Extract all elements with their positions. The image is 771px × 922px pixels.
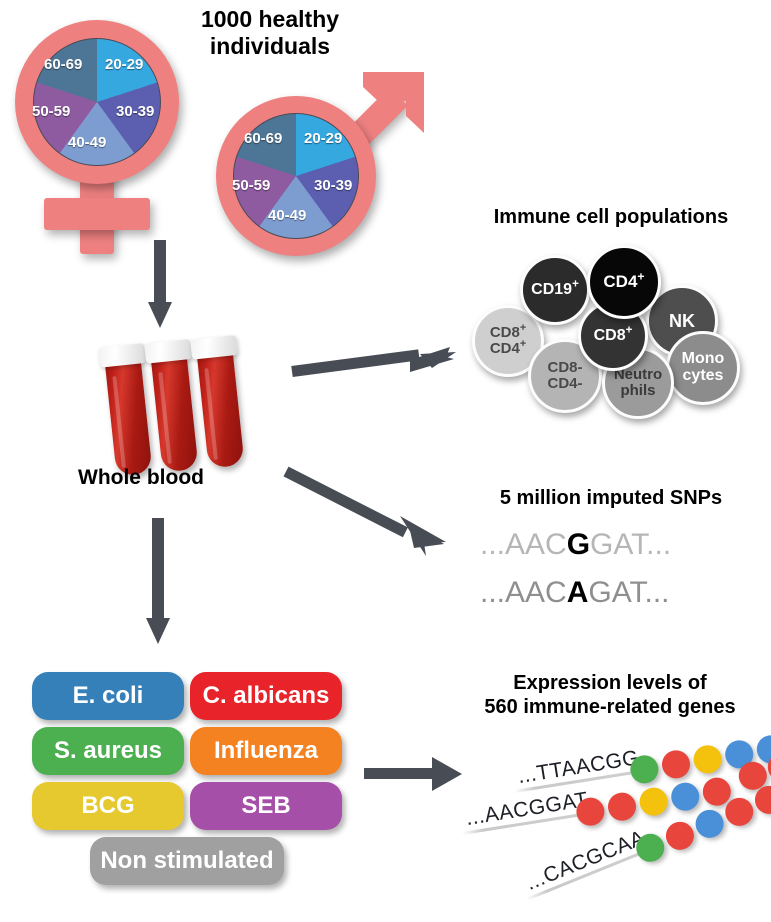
stimulation-label: S. aureus — [54, 737, 162, 765]
stimulation-label: C. albicans — [203, 682, 330, 710]
blood-tube — [103, 343, 153, 478]
pie-slice-label-40-49: 40-49 — [68, 134, 106, 151]
expression-section-title: Expression levels of 560 immune-related … — [450, 672, 770, 719]
expression-bead — [721, 794, 757, 830]
expression-bead — [606, 791, 638, 823]
expression-strands: ...TTAACGG ...AACGGAT ...CACGCAA — [452, 730, 771, 910]
snp-prefix: ...AAC — [480, 528, 567, 562]
arrow-blood-to-stimulations — [146, 518, 170, 648]
expression-bead — [662, 818, 698, 854]
pie-slice-label-male-50-59: 50-59 — [232, 177, 270, 194]
blood-tube — [195, 335, 245, 470]
immune-cell-label: NK — [669, 312, 695, 331]
immune-cell-label: CD19+ — [531, 282, 579, 299]
immune-cell-monocytes: Monocytes — [666, 331, 740, 405]
expression-bead — [751, 782, 771, 818]
snp-row: ...AACAGAT... — [480, 576, 670, 610]
stimulation-pill-e-coli[interactable]: E. coli — [32, 672, 184, 720]
diagram-canvas: 1000 healthy individuals 20-29 30-39 40-… — [0, 0, 771, 922]
immune-cell-label: CD8-CD4- — [547, 360, 582, 392]
expression-bead — [638, 786, 670, 818]
male-symbol: 20-29 30-39 40-49 50-59 60-69 — [212, 82, 427, 262]
stimulation-label: E. coli — [73, 682, 144, 710]
arrow-blood-to-immune — [292, 330, 472, 390]
immune-cell-label: CD4+ — [603, 273, 644, 291]
female-symbol: 20-29 30-39 40-49 50-59 60-69 — [8, 12, 188, 257]
stimulation-pill-non-stimulated[interactable]: Non stimulated — [90, 837, 284, 885]
pie-slice-label-50-59: 50-59 — [32, 103, 70, 120]
snp-row: ...AACGGAT... — [480, 528, 671, 562]
pie-slice-label-30-39: 30-39 — [116, 103, 154, 120]
stimulation-pill-influenza[interactable]: Influenza — [190, 727, 342, 775]
pie-slice-label-male-60-69: 60-69 — [244, 130, 282, 147]
page-title-line2: individuals — [160, 33, 380, 60]
snps-section-title: 5 million imputed SNPs — [455, 487, 767, 511]
snp-prefix: ...AAC — [480, 576, 567, 610]
stimulation-pill-bcg[interactable]: BCG — [32, 782, 184, 830]
snp-variant: G — [567, 528, 590, 562]
female-stem-cross — [44, 198, 150, 230]
page-title-line1: 1000 healthy — [160, 6, 380, 33]
snp-sequences: ...AACGGAT... ...AACAGAT... — [480, 528, 760, 618]
immune-cell-cluster: CD8+CD4+ CD19+ CD4+ NK CD8+ Monocytes CD… — [470, 243, 760, 418]
pie-slice-label-male-40-49: 40-49 — [268, 207, 306, 224]
arrow-cohort-to-blood — [148, 240, 172, 330]
snp-variant: A — [567, 576, 589, 610]
stimulation-pill-s-aureus[interactable]: S. aureus — [32, 727, 184, 775]
stimulation-label: BCG — [81, 792, 134, 820]
stimulation-panel: E. coli C. albicans S. aureus Influenza … — [32, 672, 342, 892]
whole-blood-tubes — [104, 335, 254, 475]
immune-cell-cd19pos: CD19+ — [520, 255, 590, 325]
immune-cell-label: CD8+ — [594, 328, 633, 345]
expression-title-line1: Expression levels of — [450, 672, 770, 696]
expression-bead — [669, 781, 701, 813]
stimulation-label: Influenza — [214, 737, 318, 765]
immune-cell-cd4pos: CD4+ — [587, 245, 661, 319]
immune-cell-label: Monocytes — [682, 351, 725, 385]
blood-tube — [149, 339, 199, 474]
immune-section-title: Immune cell populations — [455, 206, 767, 230]
expression-title-line2: 560 immune-related genes — [450, 696, 770, 720]
expression-bead — [660, 748, 692, 780]
arrow-blood-to-snps — [286, 460, 476, 570]
whole-blood-label: Whole blood — [78, 466, 258, 490]
pie-slice-label-20-29: 20-29 — [105, 56, 143, 73]
pie-slice-label-male-30-39: 30-39 — [314, 177, 352, 194]
immune-cell-label: CD8+CD4+ — [490, 325, 526, 357]
stimulation-label: Non stimulated — [100, 847, 273, 875]
page-title: 1000 healthy individuals — [160, 6, 380, 60]
snp-suffix: GAT... — [590, 528, 671, 562]
stimulation-pill-c-albicans[interactable]: C. albicans — [190, 672, 342, 720]
pie-slice-label-male-20-29: 20-29 — [304, 130, 342, 147]
pie-slice-label-60-69: 60-69 — [44, 56, 82, 73]
snp-suffix: GAT... — [588, 576, 669, 610]
expression-bead — [692, 743, 724, 775]
expression-bead — [691, 806, 727, 842]
immune-cell-label: Neutrophils — [614, 367, 662, 399]
stimulation-pill-seb[interactable]: SEB — [190, 782, 342, 830]
stimulation-label: SEB — [241, 792, 290, 820]
